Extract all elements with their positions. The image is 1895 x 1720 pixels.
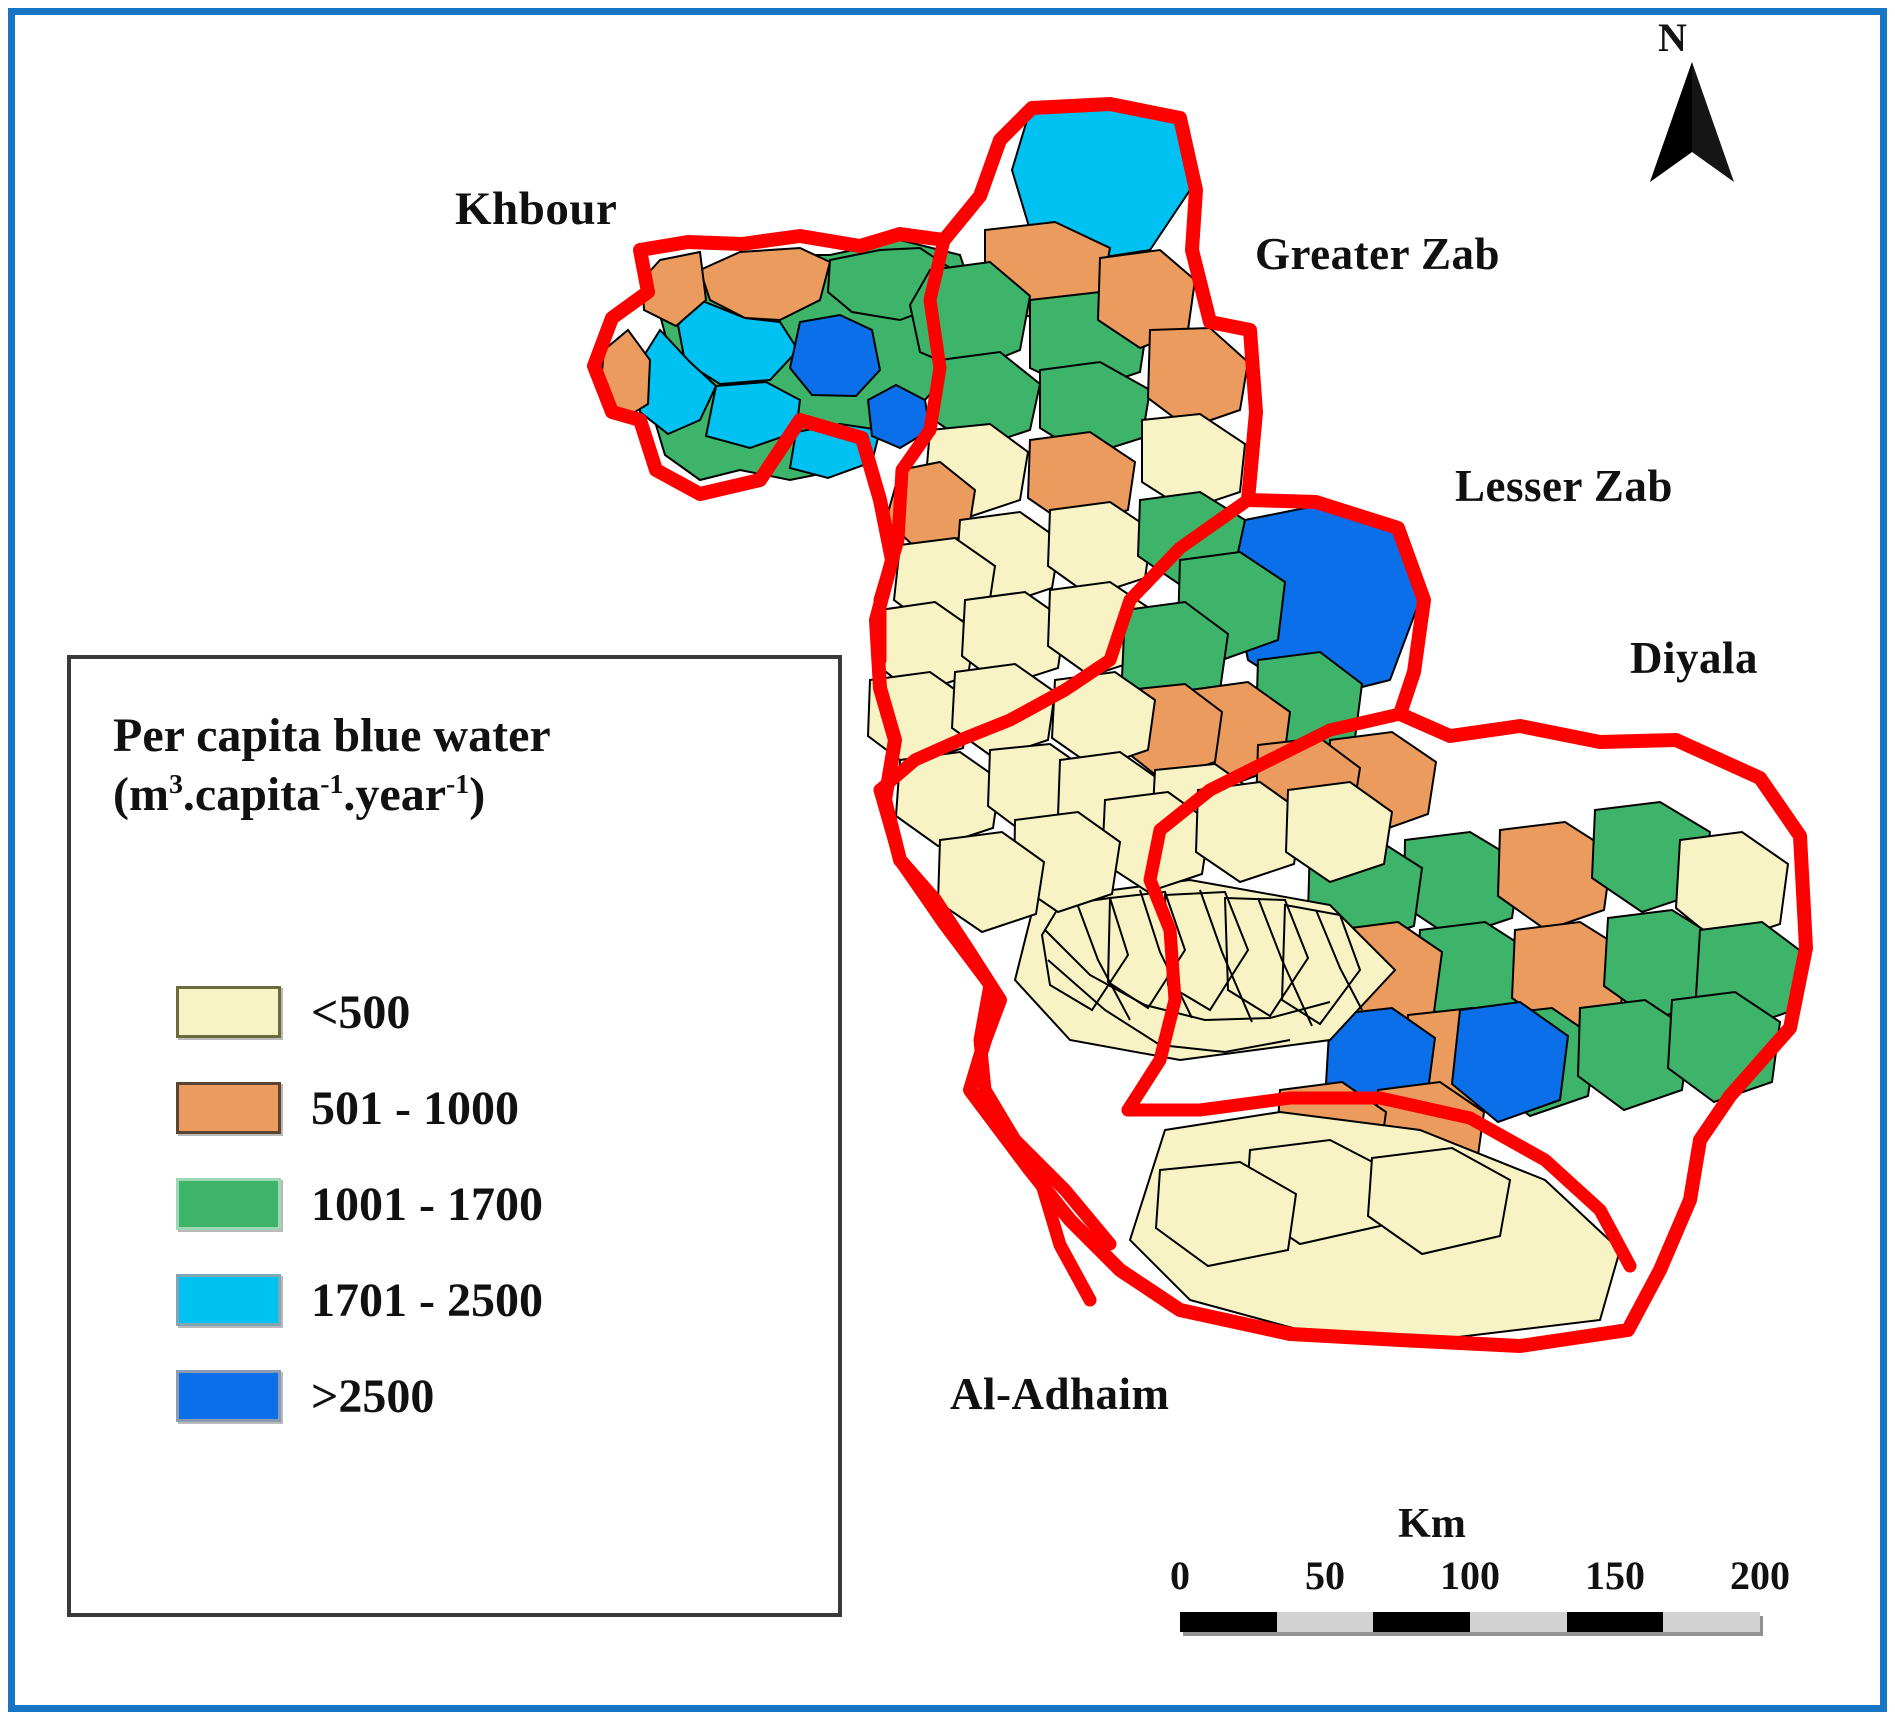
legend-swatch-gt2500 bbox=[176, 1370, 281, 1422]
scale-tick-150: 150 bbox=[1585, 1552, 1645, 1599]
legend-swatch-501-1000 bbox=[176, 1082, 281, 1134]
scale-tick-100: 100 bbox=[1440, 1552, 1500, 1599]
scale-seg-5 bbox=[1567, 1612, 1664, 1632]
region-al-adhaim bbox=[1130, 1112, 1620, 1338]
scale-bar: Km 0 50 100 150 200 bbox=[1180, 1500, 1760, 1650]
scale-bar-ticks: 0 50 100 150 200 bbox=[1180, 1552, 1760, 1600]
legend-row-lt500: <500 bbox=[176, 964, 816, 1060]
north-arrow-glyph bbox=[1630, 60, 1760, 188]
legend-swatch-1701-2500 bbox=[176, 1274, 281, 1326]
legend-box: Per capita blue water (m3.capita-1.year-… bbox=[67, 655, 842, 1617]
legend-row-501-1000: 501 - 1000 bbox=[176, 1060, 816, 1156]
legend-items: <500 501 - 1000 1001 - 1700 1701 - 2500 … bbox=[176, 964, 816, 1444]
scale-seg-4 bbox=[1470, 1612, 1567, 1632]
legend-label-1701-2500: 1701 - 2500 bbox=[311, 1273, 543, 1328]
north-arrow-letter: N bbox=[1658, 18, 1687, 58]
scale-tick-50: 50 bbox=[1305, 1552, 1345, 1599]
legend-swatch-1001-1700 bbox=[176, 1178, 281, 1230]
scale-seg-3 bbox=[1373, 1612, 1470, 1632]
legend-title-line1: Per capita blue water bbox=[113, 709, 551, 762]
map-label-khbour: Khbour bbox=[455, 182, 617, 236]
scale-tick-200: 200 bbox=[1730, 1552, 1790, 1599]
legend-label-gt2500: >2500 bbox=[311, 1369, 434, 1424]
scale-tick-0: 0 bbox=[1170, 1552, 1190, 1599]
legend-swatch-lt500 bbox=[176, 986, 281, 1038]
legend-row-1701-2500: 1701 - 2500 bbox=[176, 1252, 816, 1348]
scale-bar-unit: Km bbox=[1142, 1500, 1722, 1548]
legend-title-line2: (m3.capita-1.year-1) bbox=[113, 768, 485, 821]
map-label-greater-zab: Greater Zab bbox=[1255, 228, 1500, 280]
legend-label-lt500: <500 bbox=[311, 985, 410, 1040]
scale-bar-graphic bbox=[1180, 1612, 1760, 1632]
map-label-al-adhaim: Al-Adhaim bbox=[950, 1368, 1170, 1420]
legend-label-501-1000: 501 - 1000 bbox=[311, 1081, 519, 1136]
scale-seg-2 bbox=[1277, 1612, 1374, 1632]
legend-label-1001-1700: 1001 - 1700 bbox=[311, 1177, 543, 1232]
north-arrow-icon: N bbox=[1630, 18, 1760, 188]
map-label-diyala: Diyala bbox=[1630, 632, 1758, 684]
map-label-lesser-zab: Lesser Zab bbox=[1455, 460, 1673, 512]
scale-seg-1 bbox=[1180, 1612, 1277, 1632]
scale-seg-6 bbox=[1663, 1612, 1760, 1632]
legend-row-gt2500: >2500 bbox=[176, 1348, 816, 1444]
legend-row-1001-1700: 1001 - 1700 bbox=[176, 1156, 816, 1252]
map-figure: N Khbour Greater Zab Lesser Zab Diyala A… bbox=[0, 0, 1895, 1720]
legend-title: Per capita blue water (m3.capita-1.year-… bbox=[113, 707, 813, 824]
